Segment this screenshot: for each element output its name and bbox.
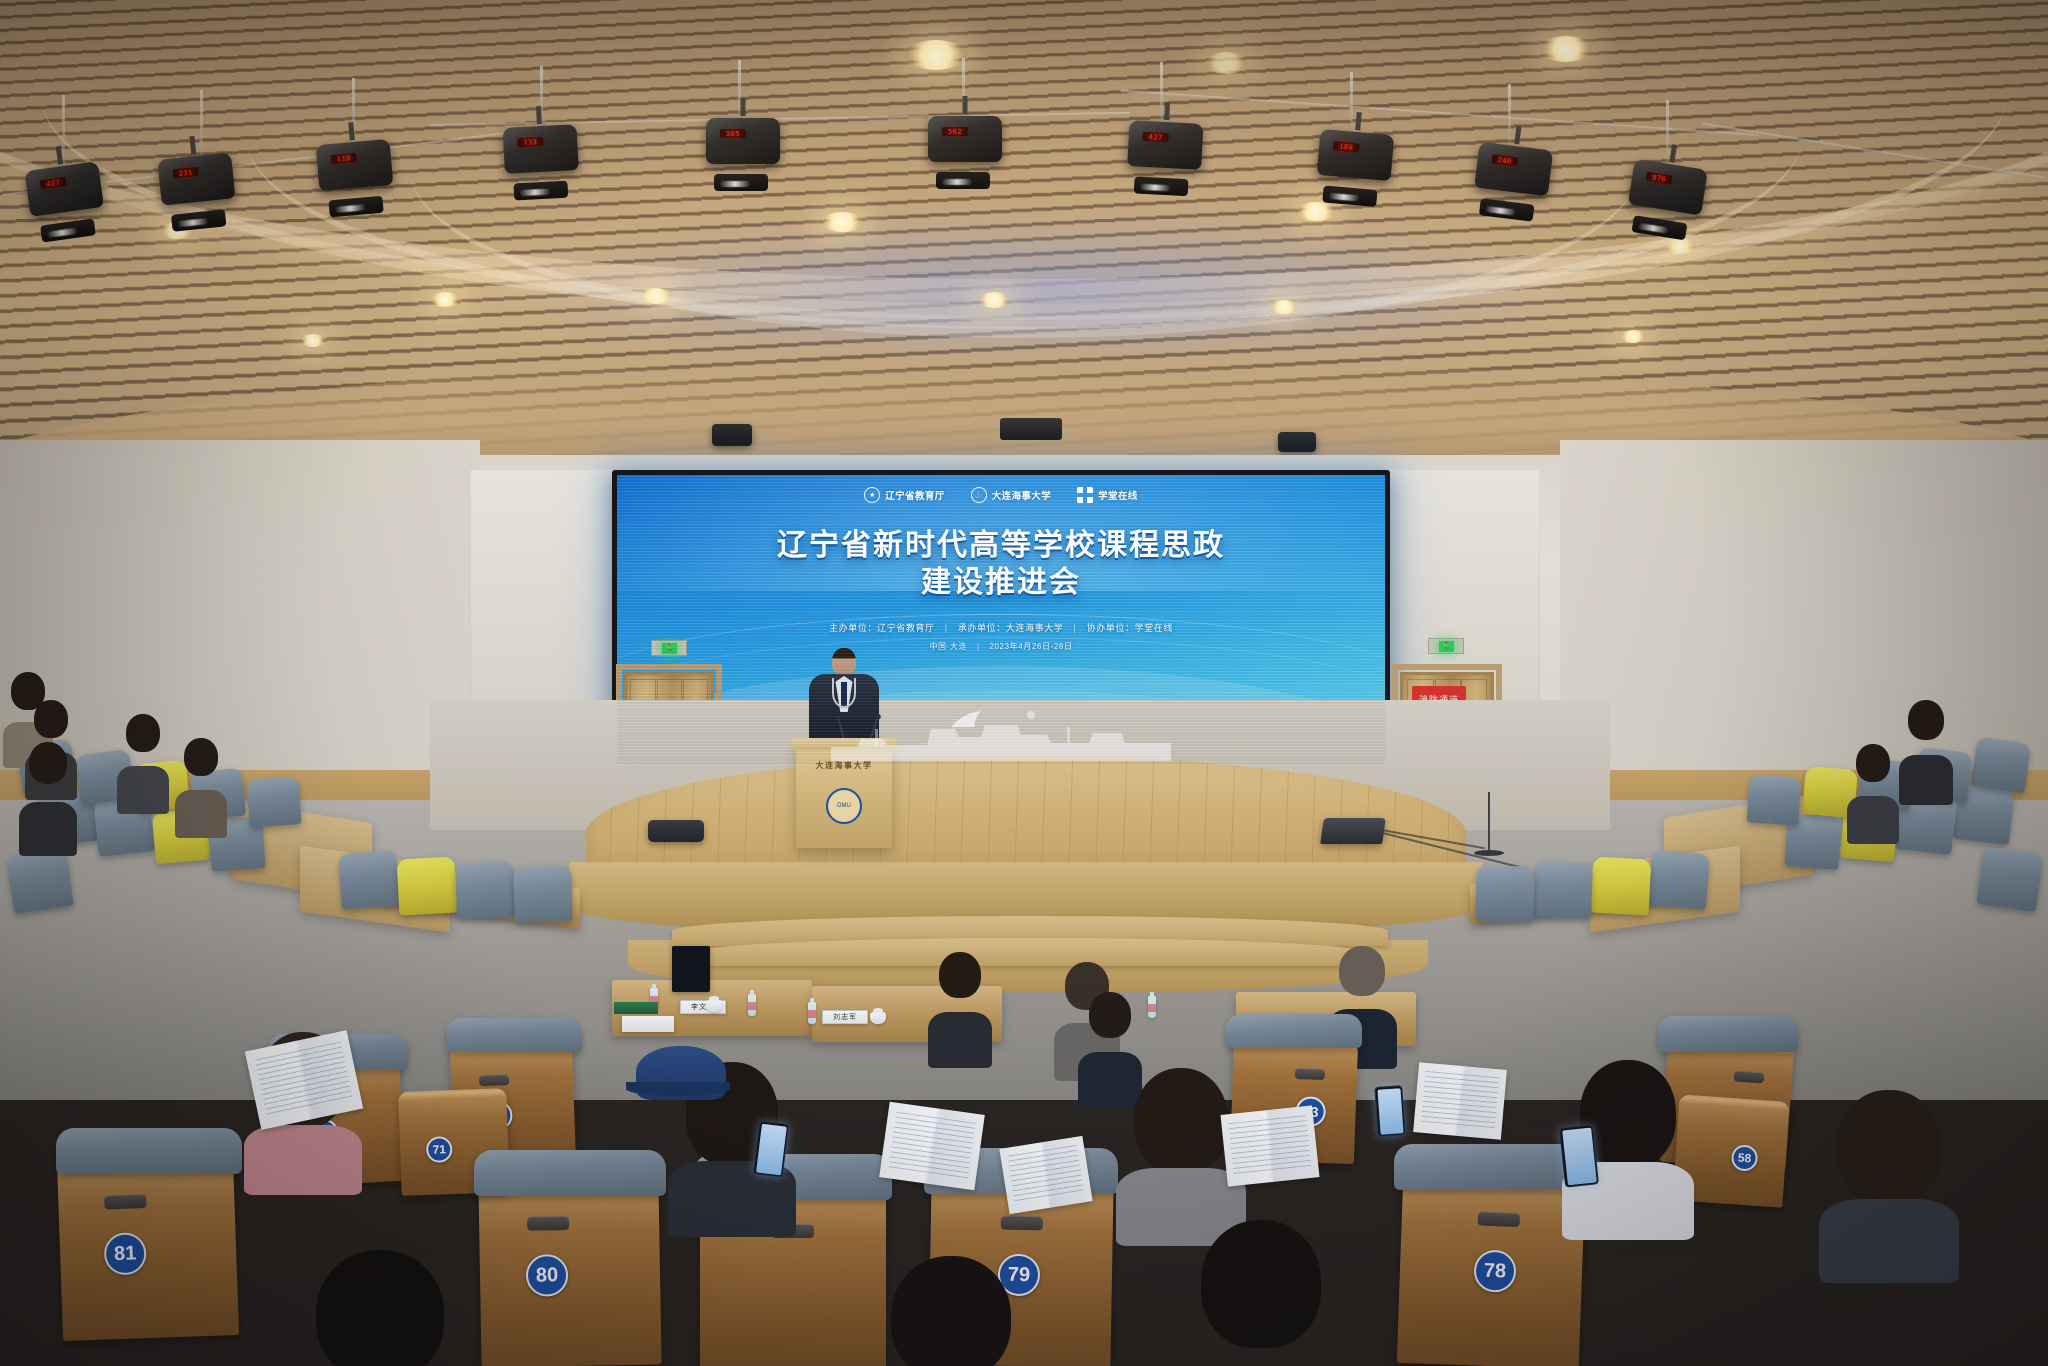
circular-seal-icon: ★ — [864, 487, 880, 503]
auditorium-seat[interactable] — [1533, 861, 1593, 919]
auditorium-seat[interactable] — [1648, 850, 1710, 910]
seat-handle[interactable] — [1295, 1068, 1325, 1080]
seat-handle[interactable] — [104, 1194, 146, 1209]
audience-person — [176, 738, 226, 822]
person-head — [1339, 946, 1385, 996]
smartphone[interactable] — [1559, 1124, 1599, 1187]
meta-separator: | — [977, 642, 980, 651]
cap-brim — [626, 1082, 730, 1096]
screen-logo-item: ★ 辽宁省教育厅 — [864, 487, 944, 503]
circular-seal-icon: ⚓ — [971, 487, 987, 503]
auditorium-seat[interactable] — [1976, 846, 2043, 912]
phone-screen — [1377, 1088, 1403, 1134]
meta-separator: | — [945, 623, 948, 633]
auditorium-seat[interactable] — [6, 848, 73, 914]
program-booklet[interactable] — [1413, 1062, 1507, 1139]
auditorium-seat[interactable] — [1746, 774, 1801, 826]
person-head — [1089, 992, 1131, 1038]
audience-person — [300, 1250, 460, 1366]
audience-person — [118, 714, 168, 798]
audience-person — [876, 1256, 1026, 1366]
person-head — [1837, 1090, 1941, 1204]
audience-person — [1824, 1090, 1954, 1266]
auditorium-seat-accent[interactable] — [1591, 857, 1652, 916]
screen-logo-item: 学堂在线 — [1077, 487, 1138, 503]
seat-handle[interactable] — [1734, 1070, 1765, 1083]
seat-cushion-top[interactable] — [1226, 1014, 1362, 1048]
screen-title-line1: 辽宁省新时代高等学校课程思政 — [777, 529, 1225, 562]
screen-logo-item: ⚓ 大连海事大学 — [971, 487, 1051, 503]
auditorium-photo: 427 231 118 733 305 — [0, 0, 2048, 1366]
seat-number-badge: 71 — [426, 1136, 453, 1163]
program-booklet[interactable] — [999, 1136, 1092, 1214]
person-body — [19, 802, 77, 856]
audience-person — [930, 952, 990, 1048]
meta-separator: | — [1074, 623, 1077, 633]
person-head — [34, 700, 68, 738]
screen-meta-row1: 主办单位：辽宁省教育厅 | 承办单位：大连海事大学 | 协办单位：学堂在线 — [617, 621, 1385, 634]
person-body — [244, 1125, 362, 1195]
phone-screen — [756, 1123, 787, 1175]
seat-handle[interactable] — [1001, 1216, 1043, 1231]
auditorium-seat-accent[interactable] — [397, 857, 458, 916]
person-head — [891, 1256, 1011, 1366]
seat-cushion-top[interactable] — [474, 1150, 666, 1196]
screen-meta: 主办单位：辽宁省教育厅 | 承办单位：大连海事大学 | 协办单位：学堂在线 中国… — [617, 621, 1385, 652]
booklet-text-lines — [255, 1041, 353, 1119]
seating-area: 68 77 63 59 81 80 — [0, 0, 2048, 1366]
smartphone[interactable] — [1374, 1085, 1405, 1137]
person-body — [1819, 1199, 1959, 1283]
person-body — [175, 790, 227, 838]
auditorium-seat[interactable] — [246, 776, 301, 828]
seat-number-badge: 80 — [526, 1254, 569, 1297]
auditorium-seat[interactable] — [1971, 736, 2031, 793]
screen-logo-label: 大连海事大学 — [992, 488, 1051, 502]
seat-back[interactable]: 80 — [478, 1178, 661, 1366]
seat-number-badge: 58 — [1731, 1144, 1759, 1172]
person-head — [316, 1250, 444, 1366]
screen-location: 中国·大连 — [929, 642, 967, 651]
person-head — [29, 742, 67, 784]
person-body — [928, 1012, 992, 1068]
program-booklet[interactable] — [1220, 1105, 1319, 1186]
auditorium-seat[interactable] — [455, 861, 515, 919]
seat-cushion-top[interactable] — [1658, 1016, 1798, 1052]
seat-back[interactable]: 78 — [1397, 1173, 1586, 1366]
screen-coorganizer-org: 协办单位：学堂在线 — [1087, 623, 1173, 633]
seat-back-rim — [400, 1090, 504, 1100]
screen-date: 2023年4月26日-28日 — [989, 642, 1072, 651]
person-head — [939, 952, 981, 998]
program-booklet[interactable] — [879, 1102, 985, 1191]
person-body — [1899, 755, 1953, 805]
auditorium-seat[interactable] — [1476, 865, 1535, 922]
seat-cushion-top[interactable] — [1394, 1144, 1588, 1190]
seat-cushion-top[interactable] — [446, 1018, 582, 1052]
screen-organizer-org: 承办单位：大连海事大学 — [958, 623, 1064, 633]
person-body — [117, 766, 169, 814]
audience-person — [1848, 744, 1898, 828]
phone-screen — [1562, 1127, 1597, 1185]
screen-logo-label: 学堂在线 — [1098, 488, 1138, 502]
screen-title-line2: 建设推进会 — [617, 564, 1385, 601]
screen-meta-row2: 中国·大连 | 2023年4月26日-28日 — [617, 641, 1385, 652]
person-body — [1847, 796, 1899, 844]
person-head — [1856, 744, 1890, 782]
screen-skyline-graphic — [831, 699, 1171, 761]
booklet-text-lines — [1421, 1071, 1499, 1130]
screen-title: 辽宁省新时代高等学校课程思政 建设推进会 — [617, 527, 1385, 601]
audience-person — [1900, 700, 1952, 788]
screen-logo-row: ★ 辽宁省教育厅 ⚓ 大连海事大学 学堂在线 — [617, 487, 1385, 503]
audience-person — [20, 742, 76, 838]
person-head — [184, 738, 218, 776]
seat-number-badge: 81 — [103, 1232, 146, 1275]
seat-number-badge: 78 — [1473, 1249, 1516, 1292]
auditorium-seat[interactable] — [514, 865, 573, 922]
screen-host-org: 主办单位：辽宁省教育厅 — [829, 623, 935, 633]
seat-handle[interactable] — [479, 1074, 509, 1086]
auditorium-seat[interactable] — [338, 850, 400, 910]
booklet-text-lines — [1007, 1145, 1085, 1206]
seat-handle[interactable] — [527, 1216, 569, 1231]
booklet-text-lines — [888, 1112, 976, 1180]
screen-logo-label: 辽宁省教育厅 — [885, 488, 944, 502]
audience-person — [1186, 1220, 1336, 1366]
seat-cushion-top[interactable] — [56, 1128, 242, 1174]
person-head — [1908, 700, 1944, 740]
four-square-icon — [1077, 487, 1093, 503]
person-head — [1134, 1068, 1228, 1174]
seat-back[interactable]: 81 — [57, 1155, 239, 1341]
person-head — [126, 714, 160, 752]
seat-handle[interactable] — [1478, 1212, 1520, 1227]
person-head — [1201, 1220, 1321, 1348]
booklet-text-lines — [1229, 1115, 1312, 1178]
